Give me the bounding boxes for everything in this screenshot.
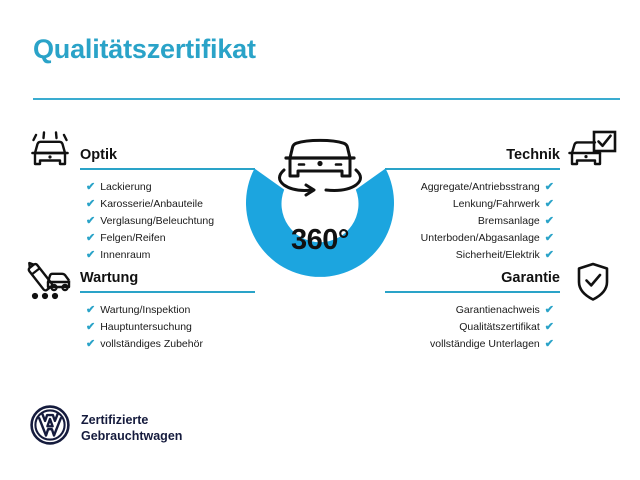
badge-ring <box>246 169 394 277</box>
list-item: ✔ Hauptuntersuchung <box>86 319 255 336</box>
check-icon: ✔ <box>86 339 95 350</box>
check-icon: ✔ <box>86 305 95 316</box>
list-item-label: Wartung/Inspektion <box>100 302 190 319</box>
list-item-label: Hauptuntersuchung <box>100 319 192 336</box>
check-icon: ✔ <box>86 233 95 244</box>
check-icon: ✔ <box>545 339 554 350</box>
check-icon: ✔ <box>86 182 95 193</box>
list-item-label: Lackierung <box>100 179 151 196</box>
check-icon: ✔ <box>545 250 554 261</box>
list-item-label: vollständiges Zubehör <box>100 336 203 353</box>
list-item-label: Sicherheit/Elektrik <box>456 247 540 264</box>
check-icon: ✔ <box>86 199 95 210</box>
car-checkbox-icon <box>568 130 618 172</box>
list-item-label: Garantienachweis <box>456 302 540 319</box>
check-icon: ✔ <box>545 199 554 210</box>
check-icon: ✔ <box>86 250 95 261</box>
badge-center-label: 360° <box>225 224 415 257</box>
footer-brand-text: Zertifizierte Gebrauchtwagen <box>81 412 182 444</box>
list-item: Qualitätszertifikat ✔ <box>385 319 554 336</box>
list-item-label: Unterboden/Abgasanlage <box>421 230 540 247</box>
page-title: Qualitätszertifikat <box>33 34 256 65</box>
footer-brand: Zertifizierte Gebrauchtwagen <box>30 405 182 450</box>
list-item-label: Innenraum <box>100 247 150 264</box>
list-item: ✔ vollständiges Zubehör <box>86 336 255 353</box>
volkswagen-logo <box>30 405 70 450</box>
check-icon: ✔ <box>86 322 95 333</box>
list-item-label: Aggregate/Antriebsstrang <box>421 179 540 196</box>
list-item-label: Qualitätszertifikat <box>459 319 540 336</box>
check-icon: ✔ <box>545 322 554 333</box>
list-item-label: Bremsanlage <box>478 213 540 230</box>
shield-check-icon <box>576 262 610 302</box>
badge-360-gebrauchtwagen-check: Gebrauchtwagen-Check 360° <box>225 118 415 318</box>
title-divider <box>33 98 620 100</box>
car-shine-icon <box>27 131 73 171</box>
check-icon: ✔ <box>545 233 554 244</box>
list-item: vollständige Unterlagen ✔ <box>385 336 554 353</box>
car-wrench-icon <box>24 261 72 301</box>
list-item-label: Felgen/Reifen <box>100 230 165 247</box>
certificate-page: Qualitätszertifikat Optik ✔ Lackierung <box>0 0 640 480</box>
check-icon: ✔ <box>545 182 554 193</box>
list-item-label: vollständige Unterlagen <box>430 336 540 353</box>
list-item-label: Lenkung/Fahrwerk <box>453 196 540 213</box>
check-icon: ✔ <box>86 216 95 227</box>
list-item-label: Karosserie/Anbauteile <box>100 196 203 213</box>
check-icon: ✔ <box>545 216 554 227</box>
check-icon: ✔ <box>545 305 554 316</box>
car-front-rotate-icon <box>280 140 361 195</box>
list-item-label: Verglasung/Beleuchtung <box>100 213 214 230</box>
